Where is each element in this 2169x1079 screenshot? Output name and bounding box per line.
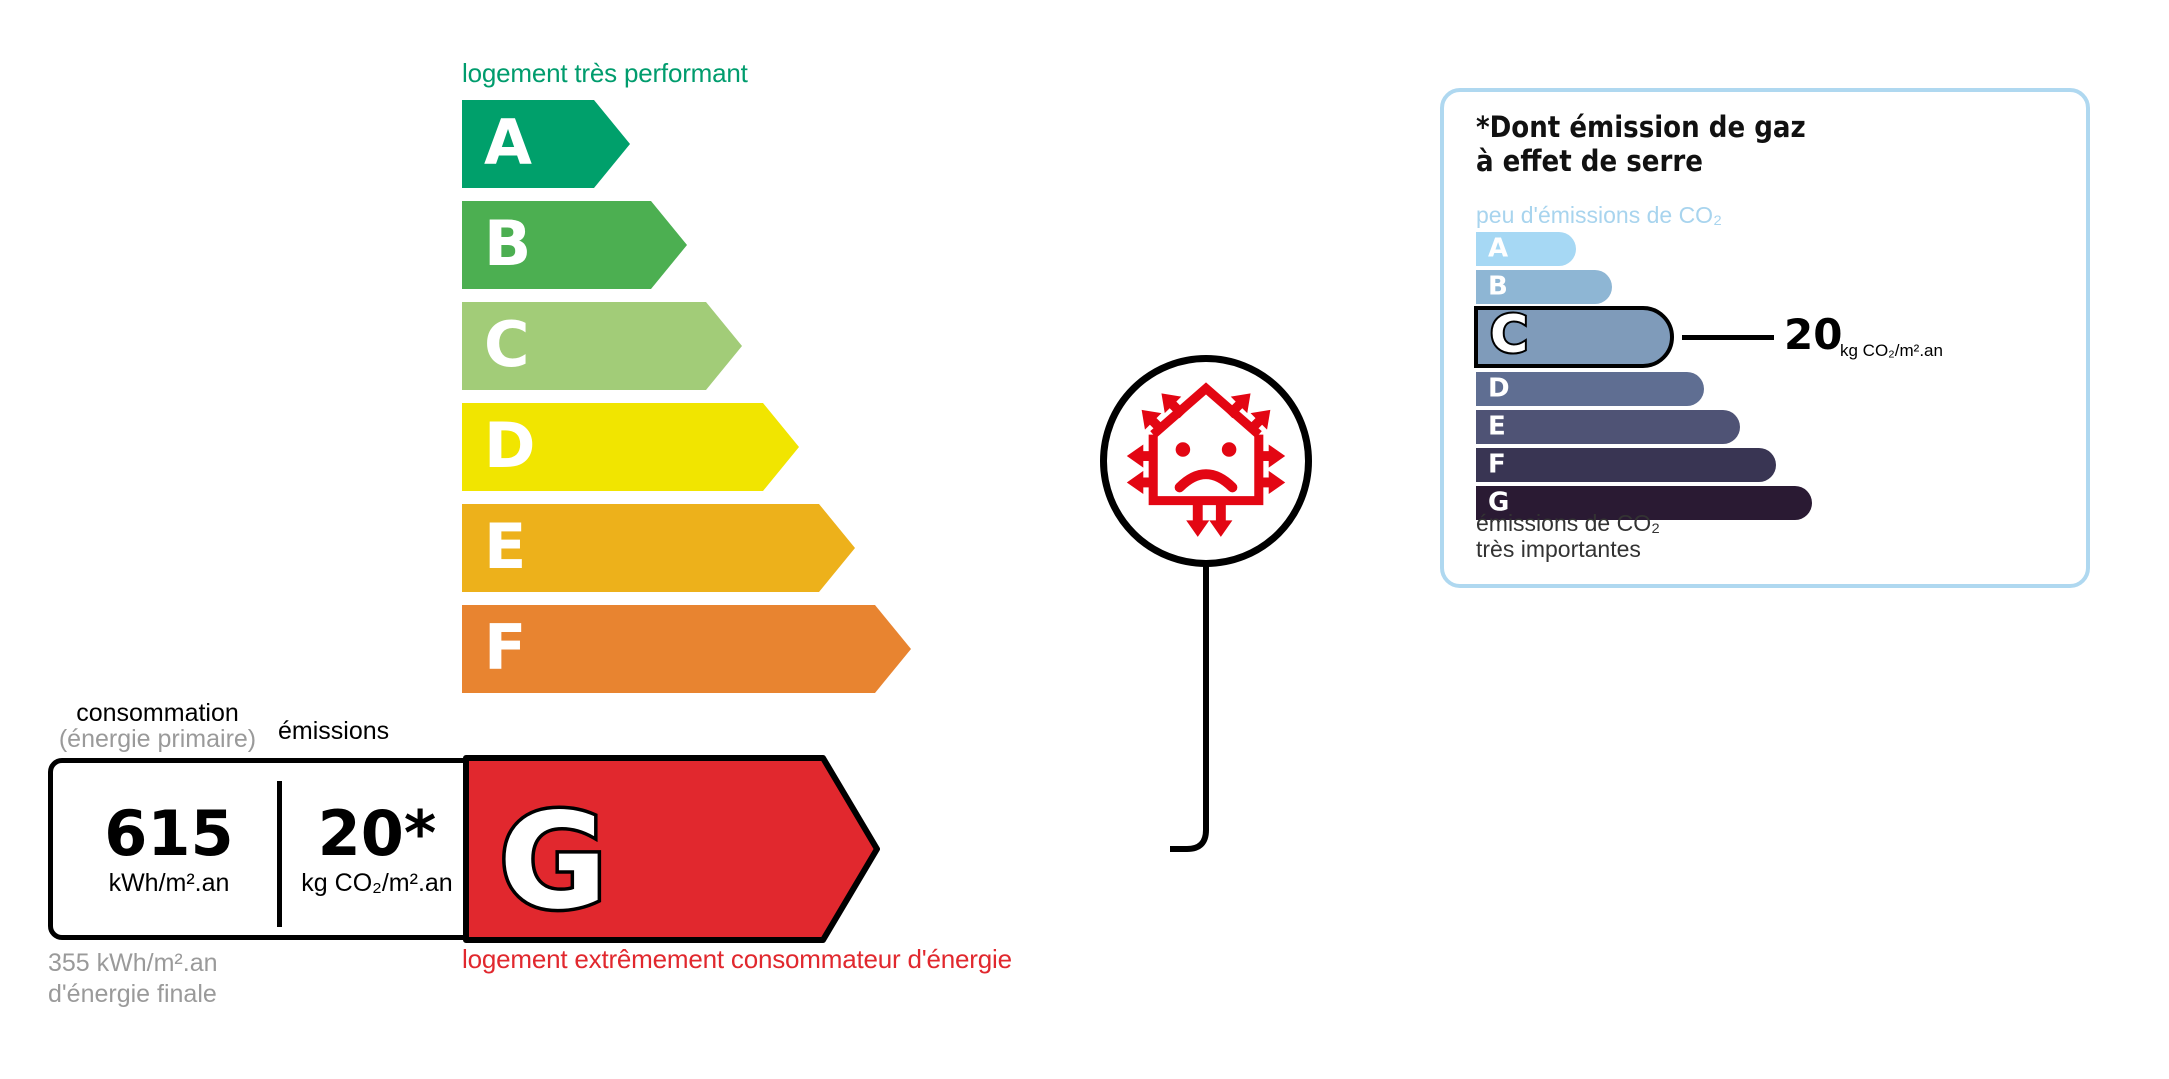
consumption-header-main: consommation bbox=[45, 700, 270, 726]
sad-house-heat-loss-icon bbox=[1107, 362, 1305, 560]
final-energy-note: 355 kWh/m².an d'énergie finale bbox=[48, 948, 218, 1011]
co2-bottom-line1: émissions de CO₂ bbox=[1476, 510, 1660, 536]
co2-value: 20 bbox=[1784, 314, 1842, 356]
badge-connector-line bbox=[1120, 555, 1340, 875]
co2-bottom-label: émissions de CO₂ très importantes bbox=[1476, 510, 1660, 563]
co2-class-bar-a[interactable]: A bbox=[1476, 232, 1576, 266]
energy-class-letter-g: G bbox=[499, 785, 607, 939]
final-energy-line1: 355 kWh/m².an bbox=[48, 948, 218, 979]
emissions-header: émissions bbox=[278, 718, 389, 744]
co2-top-label: peu d'émissions de CO₂ bbox=[1476, 202, 1722, 229]
co2-class-letter-b: B bbox=[1488, 273, 1508, 299]
co2-class-bar-d[interactable]: D bbox=[1476, 372, 1704, 406]
co2-unit: kg CO₂/m².an bbox=[1840, 342, 1943, 359]
emissions-unit: kg CO₂/m².an bbox=[301, 871, 452, 896]
co2-title-line2: à effet de serre bbox=[1476, 144, 1806, 178]
final-energy-line2: d'énergie finale bbox=[48, 979, 218, 1010]
consumption-header: consommation (énergie primaire) bbox=[45, 700, 270, 753]
consumption-value-cell: 615 kWh/m².an bbox=[61, 763, 277, 935]
co2-bottom-line2: très importantes bbox=[1476, 536, 1660, 562]
energy-class-letter-a: A bbox=[484, 112, 532, 174]
dpe-energy-scale: logement très performant A B C D E F con… bbox=[0, 0, 1320, 1079]
energy-class-bar-f[interactable]: F bbox=[462, 605, 926, 693]
co2-leader-line bbox=[1682, 335, 1774, 340]
value-box: 615 kWh/m².an 20* kg CO₂/m².an bbox=[48, 758, 468, 940]
value-divider bbox=[277, 781, 282, 927]
energy-class-bar-g[interactable]: G bbox=[463, 755, 883, 943]
co2-class-bar-c-current[interactable]: C bbox=[1474, 306, 1674, 368]
energy-class-letter-f: F bbox=[484, 617, 526, 679]
energy-class-letter-b: B bbox=[484, 213, 531, 275]
emissions-value: 20* bbox=[318, 803, 437, 865]
co2-class-letter-c: C bbox=[1490, 309, 1528, 361]
energy-class-letter-d: D bbox=[484, 415, 535, 477]
co2-class-bar-f[interactable]: F bbox=[1476, 448, 1776, 482]
co2-class-letter-d: D bbox=[1488, 375, 1510, 401]
consumption-unit: kWh/m².an bbox=[109, 871, 230, 896]
energy-class-bar-e[interactable]: E bbox=[462, 504, 870, 592]
scale-bottom-label: logement extrêmement consommateur d'éner… bbox=[462, 944, 1012, 975]
co2-class-letter-a: A bbox=[1488, 235, 1508, 261]
energy-class-bar-a[interactable]: A bbox=[462, 100, 642, 188]
energy-class-bar-b[interactable]: B bbox=[462, 201, 702, 289]
co2-class-letter-f: F bbox=[1488, 451, 1506, 477]
energy-class-letter-c: C bbox=[484, 314, 530, 376]
heat-loss-badge[interactable] bbox=[1100, 355, 1312, 567]
consumption-header-sub: (énergie primaire) bbox=[45, 726, 270, 752]
scale-top-label: logement très performant bbox=[462, 58, 748, 89]
energy-class-bar-c[interactable]: C bbox=[462, 302, 757, 390]
co2-class-letter-e: E bbox=[1488, 413, 1506, 439]
energy-class-letter-e: E bbox=[484, 516, 526, 578]
co2-title-line1: *Dont émission de gaz bbox=[1476, 110, 1806, 144]
co2-panel: *Dont émission de gaz à effet de serre p… bbox=[1440, 88, 2090, 588]
co2-class-bar-b[interactable]: B bbox=[1476, 270, 1612, 304]
co2-panel-title: *Dont émission de gaz à effet de serre bbox=[1476, 110, 1806, 178]
energy-class-bar-d[interactable]: D bbox=[462, 403, 814, 491]
co2-class-bar-e[interactable]: E bbox=[1476, 410, 1740, 444]
consumption-value: 615 bbox=[104, 803, 233, 865]
emissions-value-cell: 20* kg CO₂/m².an bbox=[285, 763, 469, 935]
